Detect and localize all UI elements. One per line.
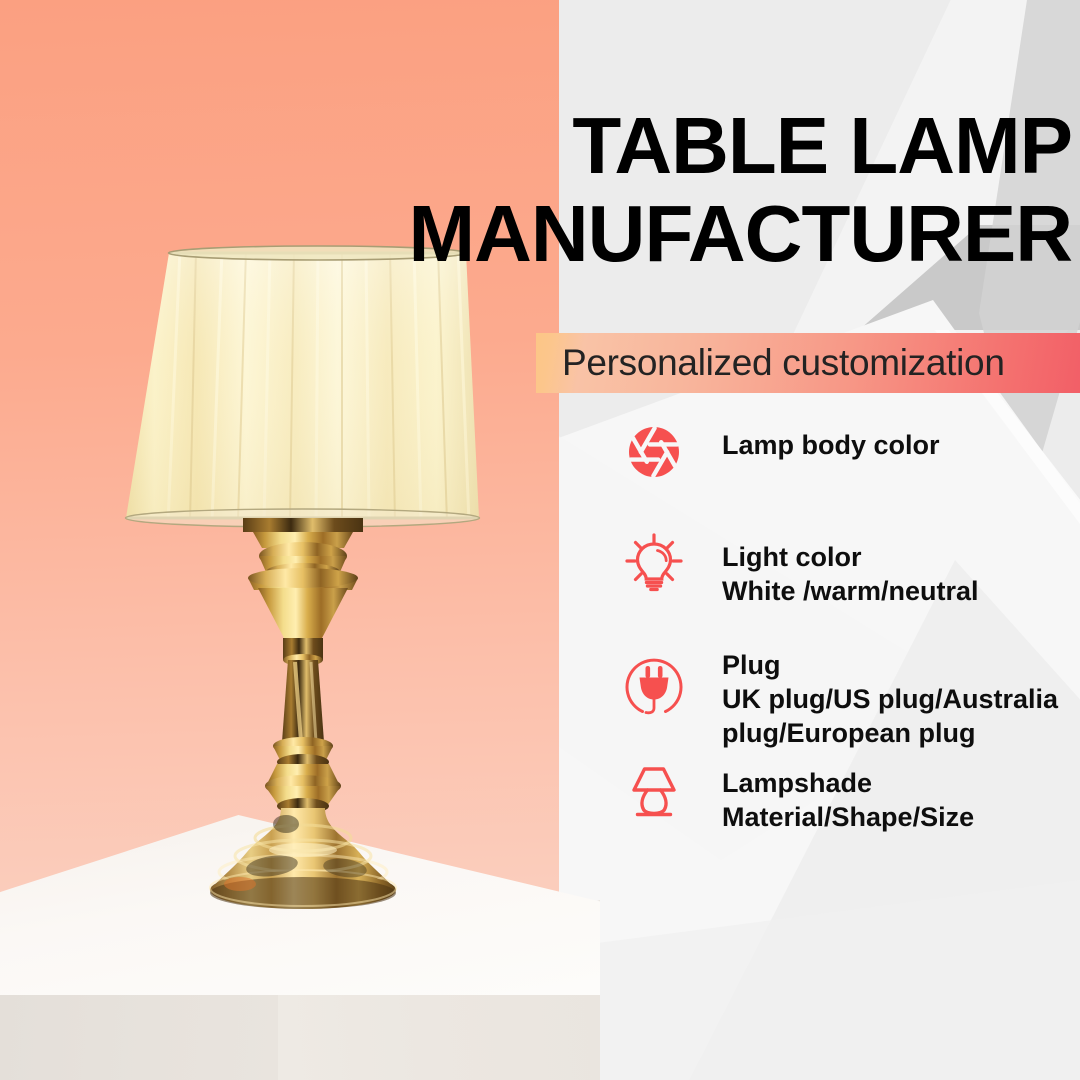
lampshade-graphic [126,246,480,527]
feature-subtitle-2: plug/European plug [722,716,1058,750]
lampshade-icon [618,760,690,822]
power-plug-icon [618,648,690,716]
feature-item-plug: Plug UK plug/US plug/Australia plug/Euro… [618,648,1058,750]
product-poster: TABLE LAMP MANUFACTURER Personalized cus… [0,0,1080,1080]
lamp-base-graphic [210,808,396,909]
lamp-neck-graphic [243,518,363,666]
feature-item-lampshade: Lampshade Material/Shape/Size [618,760,974,834]
lamp-stem-graphic [282,660,324,742]
light-bulb-icon [618,530,690,594]
subtitle-banner: Personalized customization [536,333,1080,393]
headline-line-1: TABLE LAMP [0,102,1072,190]
feature-item-light-color: Light color White /warm/neutral [618,530,979,608]
feature-text-block: Lamp body color [690,420,940,462]
feature-title: Plug [722,648,1058,682]
feature-subtitle: Material/Shape/Size [722,800,974,834]
feature-subtitle: UK plug/US plug/Australia [722,682,1058,716]
feature-title: Lampshade [722,766,974,800]
aperture-icon [618,420,690,480]
page-title: TABLE LAMP MANUFACTURER [0,102,1072,278]
feature-text-block: Lampshade Material/Shape/Size [690,760,974,834]
feature-title: Lamp body color [722,428,940,462]
feature-subtitle: White /warm/neutral [722,574,979,608]
feature-title: Light color [722,540,979,574]
headline-line-2: MANUFACTURER [0,190,1072,278]
feature-text-block: Plug UK plug/US plug/Australia plug/Euro… [690,648,1058,750]
subtitle-text: Personalized customization [562,342,1005,384]
lamp-lower-knop-graphic [265,737,341,814]
feature-item-lamp-body-color: Lamp body color [618,420,940,480]
feature-text-block: Light color White /warm/neutral [690,530,979,608]
